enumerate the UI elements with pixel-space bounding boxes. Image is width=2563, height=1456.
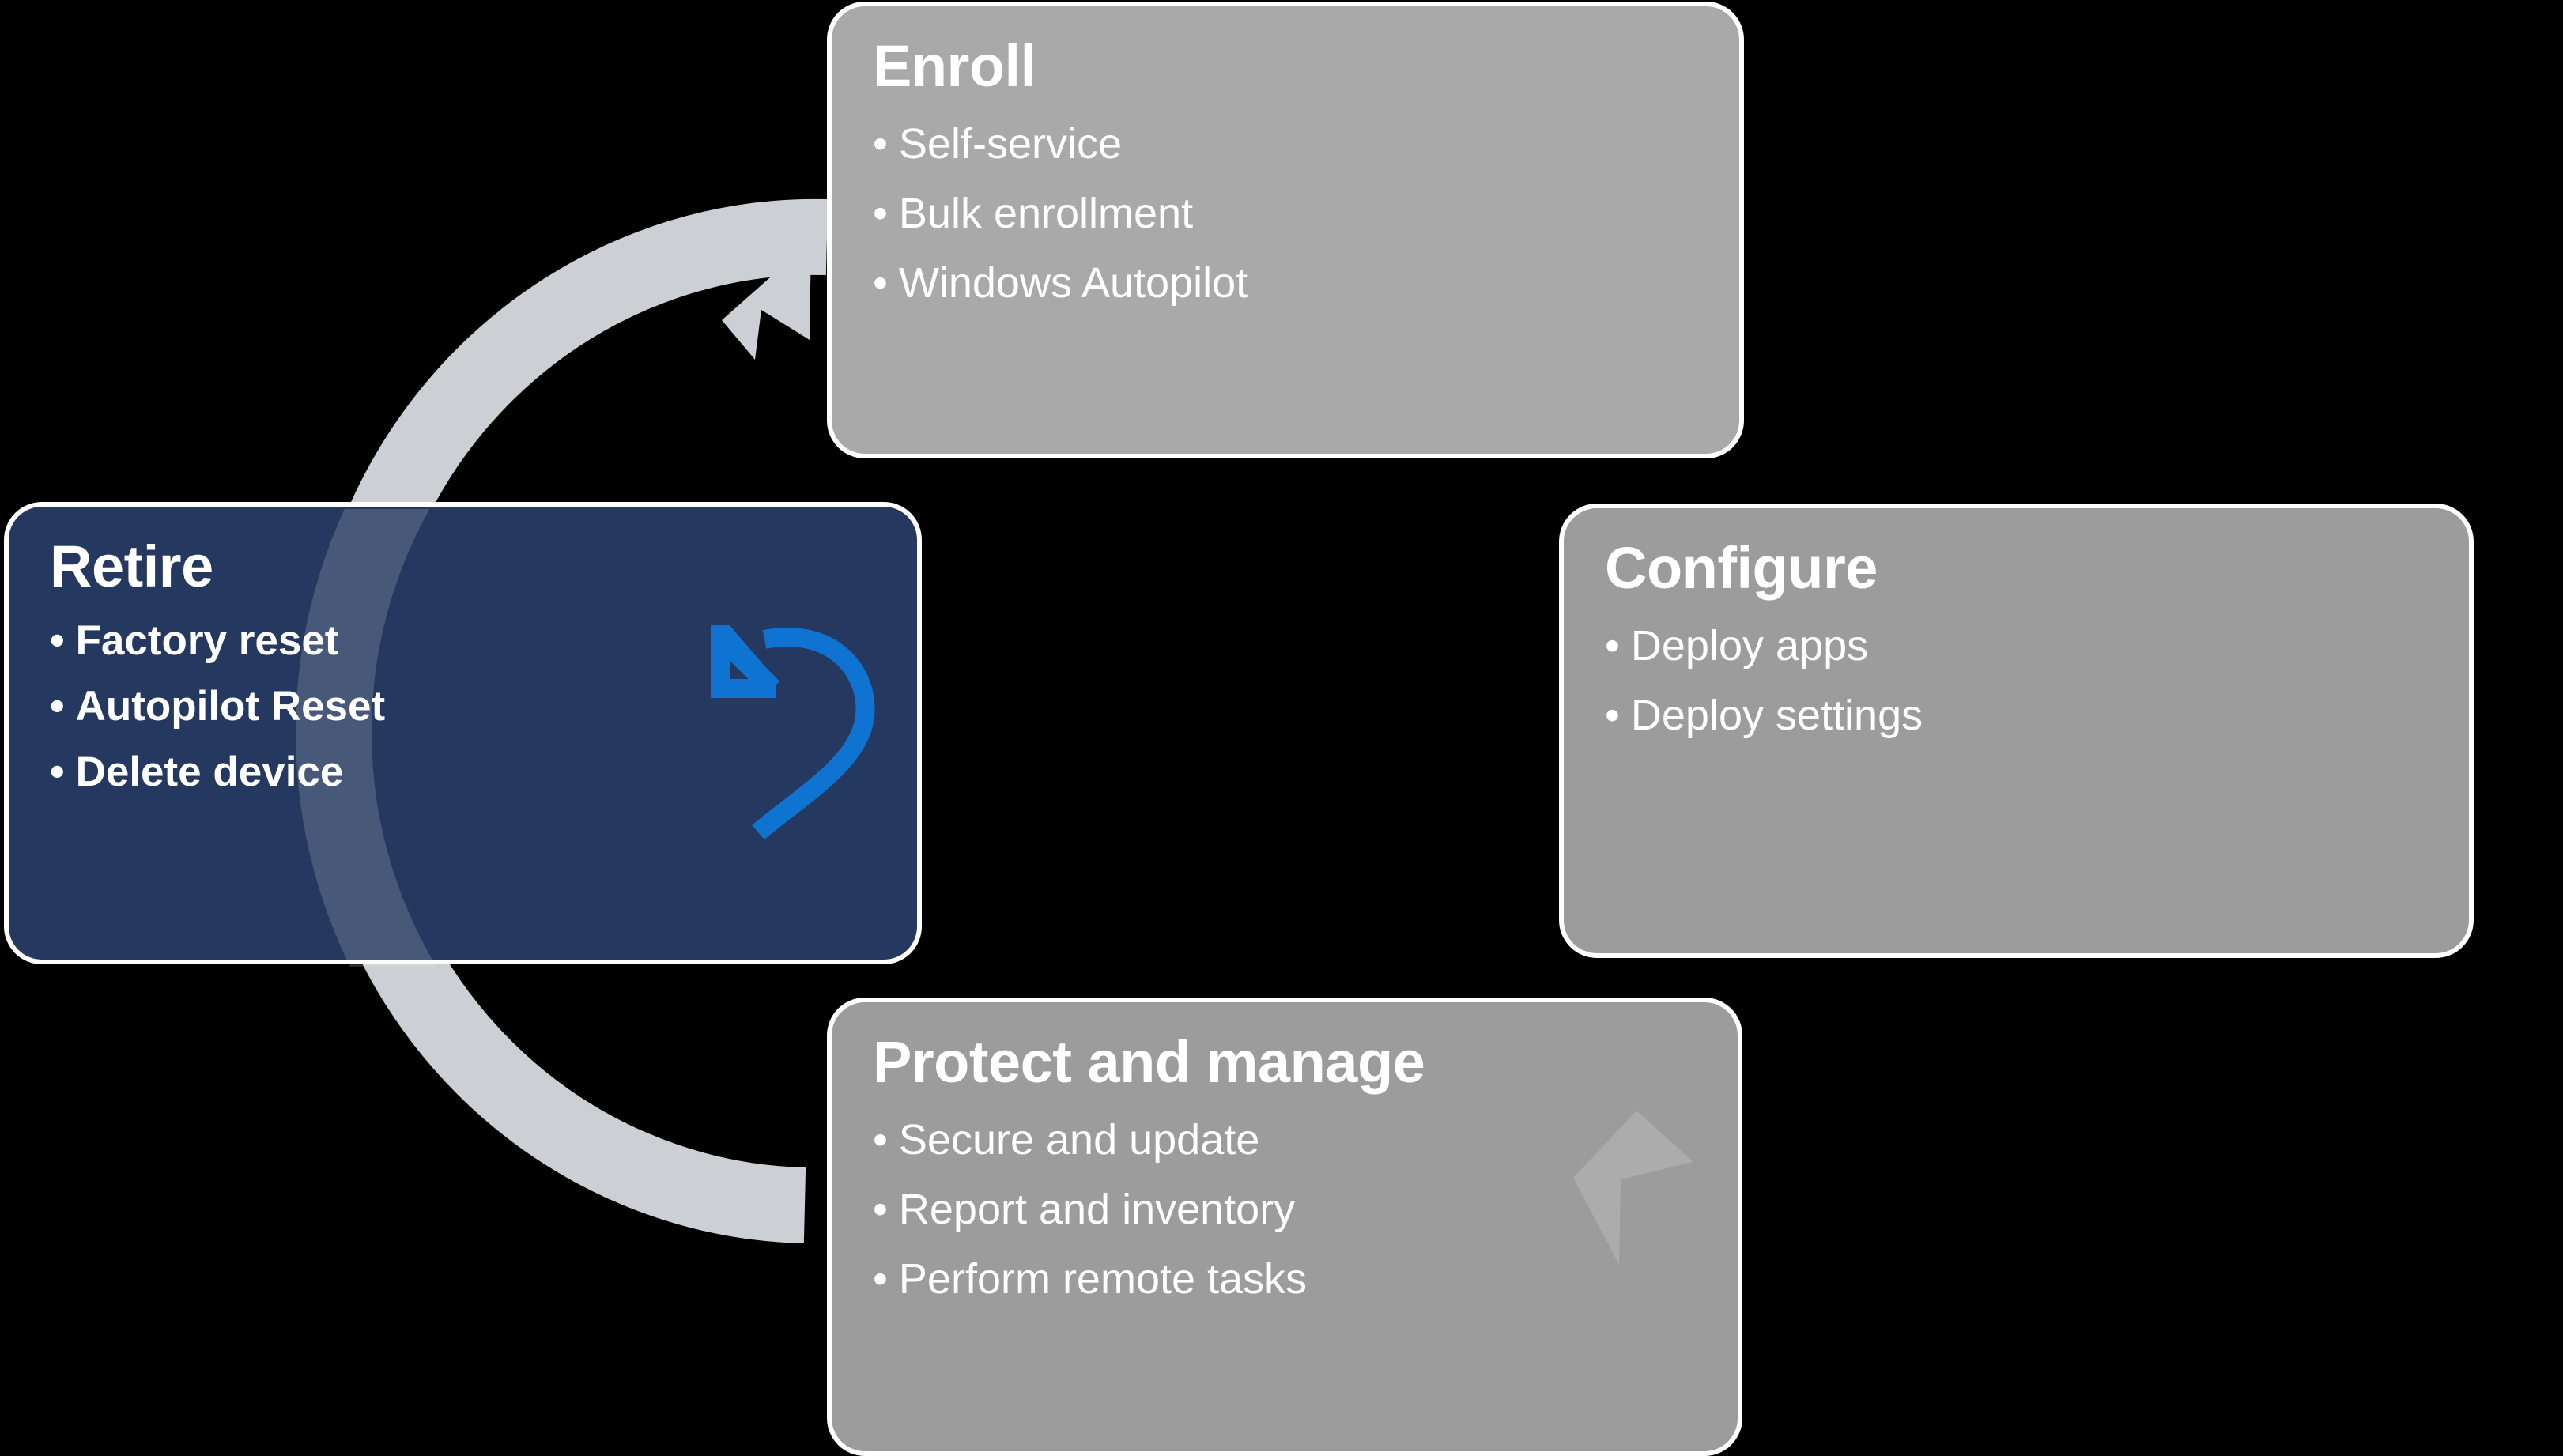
card-retire[interactable]: Retire •Factory reset •Autopilot Reset •… xyxy=(4,502,922,964)
list-item: •Windows Autopilot xyxy=(873,262,1698,304)
list-item-label: Deploy settings xyxy=(1631,692,1923,739)
bullet-glyph: • xyxy=(873,1258,888,1300)
bullet-glyph: • xyxy=(873,123,888,165)
list-item-label: Report and inventory xyxy=(899,1186,1295,1233)
bullet-glyph: • xyxy=(50,685,65,727)
list-item-label: Autopilot Reset xyxy=(76,683,386,730)
list-item: •Factory reset xyxy=(50,620,876,662)
list-item: •Delete device xyxy=(50,751,876,793)
list-item-label: Perform remote tasks xyxy=(899,1255,1307,1303)
list-item-label: Self-service xyxy=(899,120,1122,168)
card-enroll[interactable]: Enroll •Self-service •Bulk enrollment •W… xyxy=(827,2,1744,458)
card-protect-bullets: •Secure and update •Report and inventory… xyxy=(873,1118,1697,1300)
list-item: •Deploy apps xyxy=(1605,624,2428,667)
card-enroll-bullets: •Self-service •Bulk enrollment •Windows … xyxy=(873,123,1698,304)
bullet-glyph: • xyxy=(50,620,65,662)
card-retire-bullets: •Factory reset •Autopilot Reset •Delete … xyxy=(50,620,876,793)
card-configure-title: Configure xyxy=(1605,538,2428,598)
list-item: •Perform remote tasks xyxy=(873,1258,1697,1300)
bullet-glyph: • xyxy=(873,192,888,235)
card-configure[interactable]: Configure •Deploy apps •Deploy settings xyxy=(1559,504,2474,958)
bullet-glyph: • xyxy=(873,1188,888,1231)
bullet-glyph: • xyxy=(873,1118,888,1161)
list-item: •Autopilot Reset xyxy=(50,685,876,727)
card-retire-title: Retire xyxy=(50,537,876,596)
list-item-label: Windows Autopilot xyxy=(899,259,1248,307)
list-item: •Report and inventory xyxy=(873,1188,1697,1231)
list-item: •Self-service xyxy=(873,123,1698,165)
card-configure-bullets: •Deploy apps •Deploy settings xyxy=(1605,624,2428,737)
card-enroll-title: Enroll xyxy=(873,36,1698,96)
list-item: •Deploy settings xyxy=(1605,694,2428,737)
bullet-glyph: • xyxy=(50,751,65,793)
list-item: •Secure and update xyxy=(873,1118,1697,1161)
diagram-canvas: Enroll •Self-service •Bulk enrollment •W… xyxy=(0,0,2563,1456)
list-item-label: Factory reset xyxy=(76,617,339,664)
list-item-label: Delete device xyxy=(76,749,344,795)
list-item-label: Bulk enrollment xyxy=(899,190,1193,237)
bullet-glyph: • xyxy=(1605,694,1620,737)
bullet-glyph: • xyxy=(873,262,888,304)
list-item-label: Secure and update xyxy=(899,1116,1259,1164)
list-item: •Bulk enrollment xyxy=(873,192,1698,235)
bullet-glyph: • xyxy=(1605,624,1620,667)
list-item-label: Deploy apps xyxy=(1631,622,1868,670)
card-protect-title: Protect and manage xyxy=(873,1032,1697,1092)
card-protect-and-manage[interactable]: Protect and manage •Secure and update •R… xyxy=(827,998,1742,1456)
